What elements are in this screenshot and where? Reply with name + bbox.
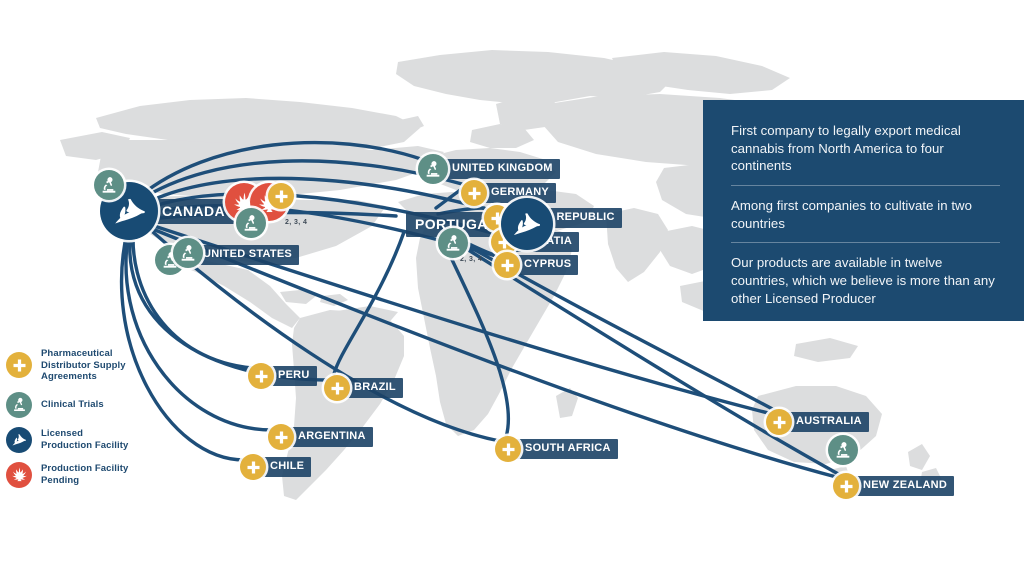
plus-icon[interactable] bbox=[494, 252, 520, 278]
map-node-south-africa[interactable]: SOUTH AFRICA bbox=[495, 436, 618, 462]
plus-icon[interactable] bbox=[461, 180, 487, 206]
microscope-icon bbox=[6, 392, 32, 418]
legend-item-label: LicensedProduction Facility bbox=[41, 428, 128, 451]
claims-panel: First company to legally export medical … bbox=[703, 100, 1024, 321]
plus-icon[interactable] bbox=[766, 409, 792, 435]
map-label-brazil: BRAZIL bbox=[341, 378, 403, 398]
legend-item-label: PharmaceuticalDistributor SupplyAgreemen… bbox=[41, 348, 126, 383]
microscope-icon[interactable] bbox=[94, 170, 124, 200]
map-node-canada-trial-2[interactable] bbox=[94, 170, 124, 200]
infographic-stage: CANADAUNITED STATESUNITED KINGDOMGERMANY… bbox=[0, 0, 1024, 576]
legend-item-label: Production FacilityPending bbox=[41, 463, 128, 486]
microscope-icon[interactable] bbox=[173, 238, 203, 268]
claim-text: Our products are available in twelve cou… bbox=[731, 254, 1000, 307]
plus-icon[interactable] bbox=[833, 473, 859, 499]
map-label-united-kingdom: UNITED KINGDOM bbox=[439, 159, 560, 179]
map-node-united-states[interactable]: UNITED STATES bbox=[196, 245, 299, 265]
plus-icon[interactable] bbox=[268, 424, 294, 450]
cannabis-leaf-icon bbox=[6, 462, 32, 488]
plus-icon[interactable] bbox=[248, 363, 274, 389]
claim-text: Among first companies to cultivate in tw… bbox=[731, 197, 1000, 232]
map-node-peru[interactable]: PERU bbox=[248, 363, 317, 389]
legend-item-pend: Production FacilityPending bbox=[6, 462, 176, 488]
legend-item-plus: PharmaceuticalDistributor SupplyAgreemen… bbox=[6, 348, 176, 383]
map-node-canada-trial[interactable] bbox=[236, 208, 266, 238]
map-label-new-zealand: NEW ZEALAND bbox=[850, 476, 954, 496]
legend-item-fac: LicensedProduction Facility bbox=[6, 427, 176, 453]
microscope-icon[interactable] bbox=[828, 435, 858, 465]
microscope-icon[interactable] bbox=[236, 208, 266, 238]
plus-icon[interactable] bbox=[495, 436, 521, 462]
map-label-united-states: UNITED STATES bbox=[196, 245, 299, 265]
map-label-argentina: ARGENTINA bbox=[285, 427, 373, 447]
map-label-south-africa: SOUTH AFRICA bbox=[512, 439, 618, 459]
map-footnote: 2, 3, 4 bbox=[285, 219, 307, 226]
plus-icon[interactable] bbox=[268, 183, 294, 209]
legend-item-label: Clinical Trials bbox=[41, 399, 104, 411]
map-label-australia: AUSTRALIA bbox=[783, 412, 869, 432]
map-node-australia[interactable]: AUSTRALIA bbox=[766, 409, 869, 435]
map-node-chile[interactable]: CHILE bbox=[240, 454, 311, 480]
map-footnote: 2, 3, 4 bbox=[460, 256, 482, 263]
microscope-icon[interactable] bbox=[438, 228, 468, 258]
map-node-cyprus[interactable]: CYPRUS bbox=[494, 252, 578, 278]
production-facility-icon[interactable] bbox=[501, 198, 553, 250]
plus-icon[interactable] bbox=[324, 375, 350, 401]
map-node-australia-trial[interactable] bbox=[828, 435, 858, 465]
map-node-portugal[interactable]: PORTUGAL bbox=[406, 198, 553, 250]
production-facility-icon bbox=[6, 427, 32, 453]
claim-text: First company to legally export medical … bbox=[731, 122, 1000, 175]
claim-separator bbox=[731, 242, 1000, 243]
claim-separator bbox=[731, 185, 1000, 186]
map-node-brazil[interactable]: BRAZIL bbox=[324, 375, 403, 401]
map-label-canada: CANADA bbox=[149, 199, 234, 224]
microscope-icon[interactable] bbox=[418, 154, 448, 184]
map-node-new-zealand[interactable]: NEW ZEALAND bbox=[833, 473, 954, 499]
map-node-us-trial-2[interactable] bbox=[173, 238, 203, 268]
map-label-cyprus: CYPRUS bbox=[511, 255, 578, 275]
legend-item-micro: Clinical Trials bbox=[6, 392, 176, 418]
map-node-portugal-trial[interactable] bbox=[438, 228, 468, 258]
map-node-argentina[interactable]: ARGENTINA bbox=[268, 424, 373, 450]
map-node-canada-plus[interactable] bbox=[268, 183, 294, 209]
plus-icon[interactable] bbox=[240, 454, 266, 480]
plus-icon bbox=[6, 352, 32, 378]
legend: PharmaceuticalDistributor SupplyAgreemen… bbox=[6, 348, 176, 497]
